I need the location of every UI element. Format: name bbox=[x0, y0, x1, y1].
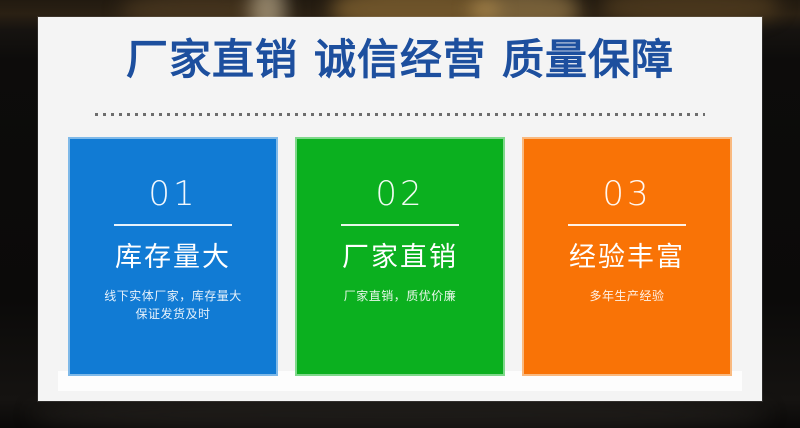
content-panel: 厂家直销诚信经营质量保障 01 库存量大 线下实体厂家，库存量大 保证发货及时 … bbox=[38, 17, 762, 401]
card-description: 多年生产经验 bbox=[536, 287, 718, 305]
card-number: 02 bbox=[375, 177, 424, 211]
card-description-line-1: 线下实体厂家，库存量大 bbox=[104, 289, 242, 303]
feature-card-03: 03 经验丰富 多年生产经验 bbox=[522, 137, 732, 376]
page-title: 厂家直销诚信经营质量保障 bbox=[38, 39, 762, 81]
feature-card-01: 01 库存量大 线下实体厂家，库存量大 保证发货及时 bbox=[68, 137, 278, 376]
card-title: 库存量大 bbox=[115, 244, 231, 271]
card-description-line-2: 保证发货及时 bbox=[82, 305, 264, 323]
card-rule bbox=[568, 224, 686, 226]
headline-part-3: 质量保障 bbox=[502, 35, 674, 84]
card-rule bbox=[341, 224, 459, 226]
card-rule bbox=[114, 224, 232, 226]
feature-card-list: 01 库存量大 线下实体厂家，库存量大 保证发货及时 02 厂家直销 厂家直销，… bbox=[68, 137, 732, 376]
card-number: 03 bbox=[602, 177, 651, 211]
headline-part-2: 诚信经营 bbox=[314, 35, 486, 84]
card-description: 线下实体厂家，库存量大 保证发货及时 bbox=[82, 287, 264, 323]
poster-image: 厂家直销诚信经营质量保障 01 库存量大 线下实体厂家，库存量大 保证发货及时 … bbox=[0, 0, 800, 428]
card-description-line-1: 多年生产经验 bbox=[589, 289, 664, 303]
dotted-divider bbox=[95, 113, 705, 116]
card-number: 01 bbox=[148, 177, 197, 211]
card-description-line-1: 厂家直销，质优价廉 bbox=[344, 289, 457, 303]
card-title: 经验丰富 bbox=[569, 244, 685, 271]
card-title: 厂家直销 bbox=[342, 244, 458, 271]
feature-card-02: 02 厂家直销 厂家直销，质优价廉 bbox=[295, 137, 505, 376]
headline-part-1: 厂家直销 bbox=[126, 35, 298, 84]
card-description: 厂家直销，质优价廉 bbox=[309, 287, 491, 305]
